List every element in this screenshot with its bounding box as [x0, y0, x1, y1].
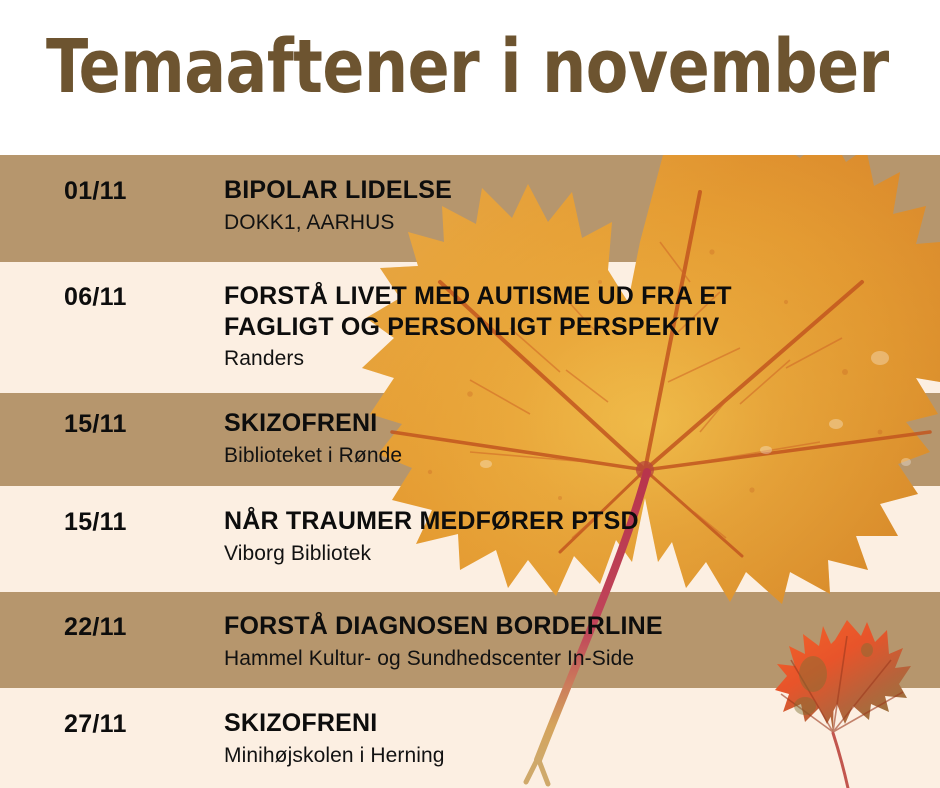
event-venue: Viborg Bibliotek [224, 541, 930, 566]
event-venue: DOKK1, AARHUS [224, 210, 930, 235]
event-venue: Randers [224, 346, 930, 371]
event-venue: Hammel Kultur- og Sundhedscenter In-Side [224, 646, 930, 671]
page-title: Temaaftener i november [46, 30, 889, 104]
schedule-row: 01/11 BIPOLAR LIDELSE DOKK1, AARHUS [0, 155, 940, 262]
schedule-row: 06/11 FORSTÅ LIVET MED AUTISME UD FRA ET… [0, 262, 940, 393]
poster-header: Temaaftener i november [0, 0, 940, 155]
row-date: 15/11 [64, 410, 127, 439]
event-title: SKIZOFRENI [224, 708, 930, 739]
event-venue: Biblioteket i Rønde [224, 443, 930, 468]
row-date: 06/11 [64, 283, 127, 312]
schedule-row: 27/11 SKIZOFRENI Minihøjskolen i Herning [0, 688, 940, 788]
row-body: NÅR TRAUMER MEDFØRER PTSD Viborg Bibliot… [224, 506, 930, 566]
row-body: FORSTÅ LIVET MED AUTISME UD FRA ET FAGLI… [224, 281, 930, 371]
event-title: FORSTÅ LIVET MED AUTISME UD FRA ET FAGLI… [224, 281, 930, 342]
row-body: SKIZOFRENI Biblioteket i Rønde [224, 408, 930, 468]
event-title: NÅR TRAUMER MEDFØRER PTSD [224, 506, 930, 537]
row-body: BIPOLAR LIDELSE DOKK1, AARHUS [224, 175, 930, 235]
event-venue: Minihøjskolen i Herning [224, 743, 930, 768]
row-date: 22/11 [64, 613, 127, 642]
poster-canvas: Temaaftener i november 01/11 BIPOLAR LID… [0, 0, 940, 788]
row-body: SKIZOFRENI Minihøjskolen i Herning [224, 708, 930, 768]
event-title: FORSTÅ DIAGNOSEN BORDERLINE [224, 611, 930, 642]
row-date: 15/11 [64, 508, 127, 537]
schedule-row: 15/11 NÅR TRAUMER MEDFØRER PTSD Viborg B… [0, 486, 940, 592]
schedule-row: 15/11 SKIZOFRENI Biblioteket i Rønde [0, 393, 940, 486]
schedule-row: 22/11 FORSTÅ DIAGNOSEN BORDERLINE Hammel… [0, 592, 940, 688]
row-date: 01/11 [64, 177, 127, 206]
event-title: BIPOLAR LIDELSE [224, 175, 930, 206]
event-title: SKIZOFRENI [224, 408, 930, 439]
schedule-list: 01/11 BIPOLAR LIDELSE DOKK1, AARHUS 06/1… [0, 155, 940, 788]
row-date: 27/11 [64, 710, 127, 739]
row-body: FORSTÅ DIAGNOSEN BORDERLINE Hammel Kultu… [224, 611, 930, 671]
